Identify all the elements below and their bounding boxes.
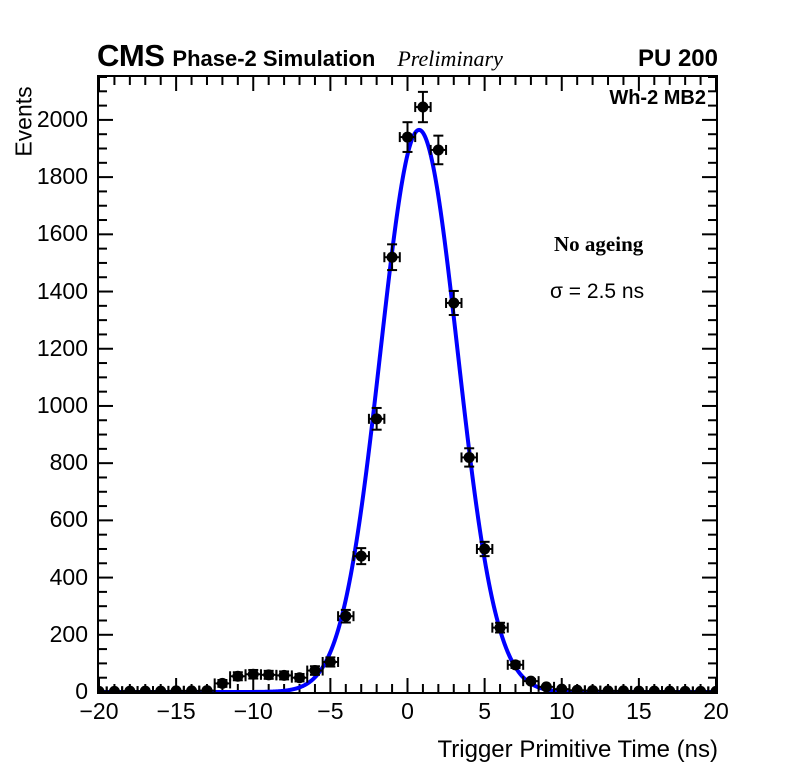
data-point-marker <box>217 678 228 689</box>
chamber-label: Wh-2 MB2 <box>609 87 706 110</box>
data-point-marker <box>541 681 552 692</box>
y-axis-tick-label: 400 <box>50 566 88 589</box>
cms-logo: CMS <box>97 40 164 71</box>
data-point-marker <box>109 686 120 692</box>
data-point-marker <box>340 611 351 622</box>
y-axis-tick-label: 2000 <box>37 108 88 131</box>
data-point-marker <box>695 686 706 692</box>
data-point-marker <box>248 669 259 680</box>
cms-header: CMS Phase-2 Simulation Preliminary PU 20… <box>97 40 718 72</box>
data-point-marker <box>448 297 459 308</box>
gaussian-fit-curve <box>99 130 716 692</box>
data-point-marker <box>232 671 243 682</box>
data-point-marker <box>556 684 567 692</box>
data-point-marker <box>711 686 717 692</box>
pileup-label: PU 200 <box>638 47 718 71</box>
data-point-marker <box>171 685 182 692</box>
data-points-group <box>99 92 716 692</box>
y-axis-tick-label: 1200 <box>37 337 88 360</box>
x-axis-tick-label: −20 <box>79 700 118 723</box>
plot-canvas: CMS Phase-2 Simulation Preliminary PU 20… <box>0 0 796 772</box>
data-point-marker <box>325 656 336 667</box>
data-point-marker <box>572 685 583 692</box>
y-axis-tick-label: 1400 <box>37 280 88 303</box>
data-point-marker <box>664 686 675 692</box>
y-axis-tick-label: 200 <box>50 623 88 646</box>
data-point-marker <box>387 252 398 263</box>
data-point-marker <box>464 452 475 463</box>
x-axis-tick-label: −10 <box>234 700 273 723</box>
x-axis-tick-label: −15 <box>157 700 196 723</box>
data-point-marker <box>680 686 691 692</box>
data-point-marker <box>279 670 290 681</box>
y-axis-tick-label: 600 <box>50 508 88 531</box>
ageing-scenario-label: No ageing <box>554 232 643 257</box>
x-axis-tick-label: 0 <box>401 700 414 723</box>
data-point-marker <box>510 659 521 670</box>
x-axis-tick-label: 15 <box>626 700 652 723</box>
y-axis-tick-label: 1600 <box>37 222 88 245</box>
x-axis-tick-label: 10 <box>549 700 575 723</box>
data-point-marker <box>525 676 536 687</box>
x-axis-tick-labels: −20−15−10−505101520 <box>97 700 718 730</box>
x-axis-tick-label: 20 <box>703 700 729 723</box>
data-point-marker <box>263 669 274 680</box>
plot-frame: Wh-2 MB2 No ageing σ = 2.5 ns <box>97 75 718 694</box>
resolution-label: σ = 2.5 ns <box>550 280 644 304</box>
data-point-marker <box>99 686 105 692</box>
data-point-marker <box>155 686 166 692</box>
data-point-marker <box>587 685 598 692</box>
x-axis-tick-label: −5 <box>317 700 343 723</box>
data-point-marker <box>186 685 197 692</box>
x-axis-title: Trigger Primitive Time (ns) <box>438 736 718 764</box>
data-point-marker <box>649 686 660 692</box>
cms-subtitle: Phase-2 Simulation <box>172 48 375 70</box>
data-point-marker <box>495 622 506 633</box>
data-point-marker <box>603 685 614 692</box>
y-axis-tick-label: 1000 <box>37 394 88 417</box>
x-axis-tick-label: 5 <box>478 700 491 723</box>
data-point-marker <box>201 685 212 692</box>
data-point-marker <box>618 685 629 692</box>
y-axis-title: Events <box>11 62 38 182</box>
data-point-marker <box>309 665 320 676</box>
y-axis-tick-label: 1800 <box>37 165 88 188</box>
data-point-marker <box>633 686 644 692</box>
data-point-marker <box>124 686 135 692</box>
data-point-marker <box>433 144 444 155</box>
cms-status-label: Preliminary <box>397 48 503 70</box>
data-point-marker <box>417 102 428 113</box>
data-point-marker <box>294 672 305 683</box>
plot-area <box>99 77 716 692</box>
data-point-marker <box>371 413 382 424</box>
data-point-marker <box>479 543 490 554</box>
data-point-marker <box>140 686 151 692</box>
y-axis-tick-label: 800 <box>50 451 88 474</box>
data-point-marker <box>402 132 413 143</box>
data-point-marker <box>356 551 367 562</box>
